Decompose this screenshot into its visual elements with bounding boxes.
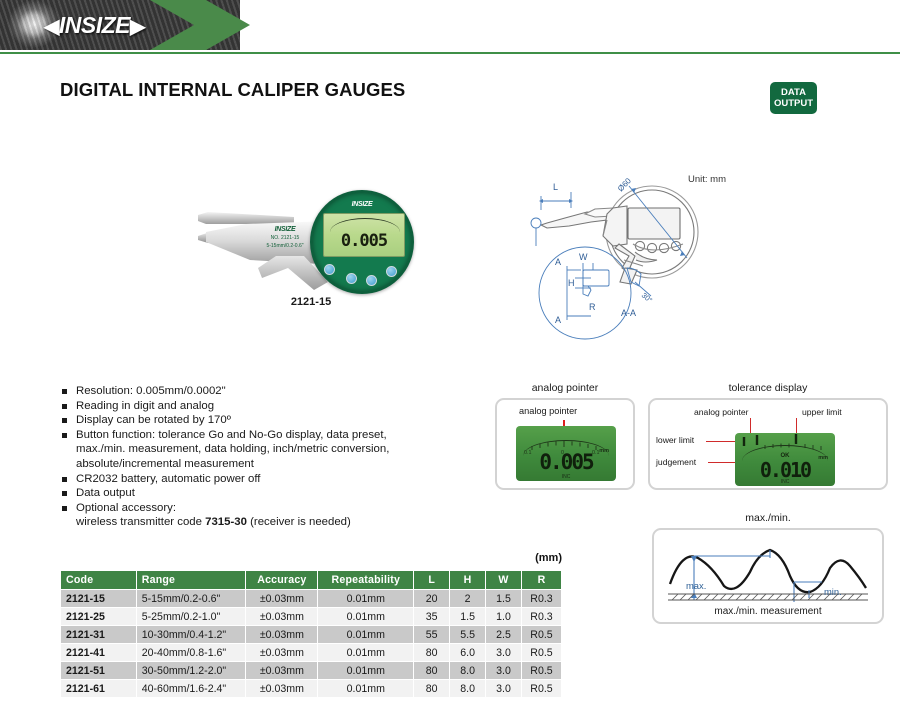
cell-accuracy: ±0.03mm xyxy=(246,644,318,662)
feature-text-cont: absolute/incremental measurement xyxy=(76,457,462,472)
feature-item: Button function: tolerance Go and No-Go … xyxy=(62,428,462,472)
cell-l: 80 xyxy=(414,662,450,680)
cell-code: 2121-41 xyxy=(61,644,137,662)
cell-code: 2121-15 xyxy=(61,590,137,608)
drawing-section-a-top: A xyxy=(555,257,561,267)
cell-w: 3.0 xyxy=(486,644,522,662)
insize-logo: ◀INSIZE▶ xyxy=(44,12,145,39)
product-code-caption: 2121-15 xyxy=(196,296,426,308)
dial-button-row xyxy=(322,264,406,290)
cell-h: 8.0 xyxy=(450,680,486,698)
cell-code: 2121-61 xyxy=(61,680,137,698)
maxmin-waveform-svg xyxy=(654,532,882,604)
maxmin-panel: max. min. max./min. measurement xyxy=(652,528,884,624)
logo-text: INSIZE xyxy=(59,12,130,38)
tolerance-lcd-screen: OK 0.010 mm INC xyxy=(735,433,835,486)
table-unit-label: (mm) xyxy=(60,552,562,564)
data-output-badge: DATA OUTPUT xyxy=(770,82,817,114)
cell-l: 35 xyxy=(414,608,450,626)
dial-lcd-screen: 0.005 xyxy=(323,213,405,257)
features-list: Resolution: 0.005mm/0.0002" Reading in d… xyxy=(62,384,462,530)
tolerance-panel-caption: tolerance display xyxy=(648,382,888,394)
feature-text: Button function: tolerance Go and No-Go … xyxy=(76,429,387,441)
caliper-dial-head: INSIZE 0.005 xyxy=(310,190,414,294)
cell-h: 5.5 xyxy=(450,626,486,644)
cell-r: R0.3 xyxy=(521,608,561,626)
feature-text: Data output xyxy=(76,487,135,499)
cell-repeatability: 0.01mm xyxy=(318,680,414,698)
cell-w: 3.0 xyxy=(486,680,522,698)
drawing-dim-w: W xyxy=(579,252,588,262)
spec-table: Code Range Accuracy Repeatability L H W … xyxy=(60,570,562,698)
analog-panel-caption: analog pointer xyxy=(495,382,635,394)
analog-lcd-mode: INC xyxy=(516,474,616,480)
cell-accuracy: ±0.03mm xyxy=(246,680,318,698)
dial-button-4[interactable] xyxy=(386,266,397,277)
analog-lcd-unit: mm xyxy=(599,448,609,454)
feature-text-cont: wireless transmitter code 7315-30 (recei… xyxy=(76,515,462,530)
cell-code: 2121-25 xyxy=(61,608,137,626)
cell-repeatability: 0.01mm xyxy=(318,608,414,626)
feature-item: Resolution: 0.005mm/0.0002" xyxy=(62,384,462,399)
drawing-section-a-bottom: A xyxy=(555,315,561,325)
badge-line-2: OUTPUT xyxy=(774,98,813,109)
tolerance-lcd-unit: mm xyxy=(818,455,828,461)
table-row: 2121-61 40-60mm/1.6-2.4" ±0.03mm 0.01mm … xyxy=(61,680,562,698)
cell-w: 2.5 xyxy=(486,626,522,644)
cell-w: 1.0 xyxy=(486,608,522,626)
cell-repeatability: 0.01mm xyxy=(318,626,414,644)
maxmin-panel-caption: max./min. xyxy=(652,512,884,524)
cell-range: 20-40mm/0.8-1.6" xyxy=(136,644,246,662)
drawing-dim-h: H xyxy=(568,278,575,288)
col-header-repeatability: Repeatability xyxy=(318,571,414,590)
maxmin-label-min: min. xyxy=(824,586,842,597)
tolerance-lcd-mode: INC xyxy=(735,479,835,485)
col-header-r: R xyxy=(521,571,561,590)
cell-l: 80 xyxy=(414,680,450,698)
feature-text: Optional accessory: xyxy=(76,502,176,514)
cell-r: R0.3 xyxy=(521,590,561,608)
cell-repeatability: 0.01mm xyxy=(318,644,414,662)
technical-drawing-svg: Unit: mm Ø60 L W H R A A A-A 30° xyxy=(495,160,745,340)
cell-h: 8.0 xyxy=(450,662,486,680)
cell-r: R0.5 xyxy=(521,680,561,698)
cell-range: 5-25mm/0.2-1.0" xyxy=(136,608,246,626)
drawing-angle-label: 30° xyxy=(640,291,654,305)
cell-w: 3.0 xyxy=(486,662,522,680)
tolerance-label-lower-limit: lower limit xyxy=(656,435,694,445)
cell-range: 10-30mm/0.4-1.2" xyxy=(136,626,246,644)
feature-text: Resolution: 0.005mm/0.0002" xyxy=(76,385,226,397)
cell-range: 30-50mm/1.2-2.0" xyxy=(136,662,246,680)
tolerance-label-analog-pointer: analog pointer xyxy=(694,407,748,417)
tolerance-label-judgement: judgement xyxy=(656,457,696,467)
product-photo: INSIZE NO. 2121-15 5-15mm/0.2-0.6" INSIZ… xyxy=(196,182,426,312)
maxmin-bottom-caption: max./min. measurement xyxy=(654,606,882,617)
cell-r: R0.5 xyxy=(521,626,561,644)
dial-brand-text: INSIZE xyxy=(312,201,412,208)
cell-code: 2121-51 xyxy=(61,662,137,680)
cell-accuracy: ±0.03mm xyxy=(246,608,318,626)
col-header-l: L xyxy=(414,571,450,590)
dial-button-2[interactable] xyxy=(346,273,357,284)
table-row: 2121-51 30-50mm/1.2-2.0" ±0.03mm 0.01mm … xyxy=(61,662,562,680)
maxmin-label-max: max. xyxy=(686,580,706,591)
drawing-dim-r: R xyxy=(589,302,596,312)
table-header-row: Code Range Accuracy Repeatability L H W … xyxy=(61,571,562,590)
feature-item: Optional accessory: wireless transmitter… xyxy=(62,501,462,530)
dial-button-3[interactable] xyxy=(366,275,377,286)
tolerance-label-upper-limit: upper limit xyxy=(802,407,842,417)
logo-arrow-right: ▶ xyxy=(130,16,145,38)
page-title: DIGITAL INTERNAL CALIPER GAUGES xyxy=(60,79,405,101)
feature-item: Data output xyxy=(62,486,462,501)
cell-range: 40-60mm/1.6-2.4" xyxy=(136,680,246,698)
feature-item: Reading in digit and analog xyxy=(62,399,462,414)
accessory-pre: wireless transmitter code xyxy=(76,516,205,528)
badge-line-1: DATA xyxy=(781,87,806,98)
accessory-post: (receiver is needed) xyxy=(247,516,351,528)
cell-r: R0.5 xyxy=(521,662,561,680)
tolerance-display-panel: analog pointer upper limit lower limit j… xyxy=(648,398,888,490)
col-header-w: W xyxy=(486,571,522,590)
drawing-section-label: A-A xyxy=(621,308,636,318)
cell-h: 1.5 xyxy=(450,608,486,626)
col-header-code: Code xyxy=(61,571,137,590)
table-row: 2121-25 5-25mm/0.2-1.0" ±0.03mm 0.01mm 3… xyxy=(61,608,562,626)
catalog-page: ◀INSIZE▶ DIGITAL INTERNAL CALIPER GAUGES… xyxy=(0,0,900,708)
technical-drawing: Unit: mm Ø60 L W H R A A A-A 30° xyxy=(495,160,745,340)
cell-code: 2121-31 xyxy=(61,626,137,644)
feature-text: CR2032 battery, automatic power off xyxy=(76,473,260,485)
col-header-h: H xyxy=(450,571,486,590)
feature-text: Reading in digit and analog xyxy=(76,400,214,412)
feature-text: Display can be rotated by 170º xyxy=(76,414,231,426)
table-row: 2121-31 10-30mm/0.4-1.2" ±0.03mm 0.01mm … xyxy=(61,626,562,644)
table-row: 2121-15 5-15mm/0.2-0.6" ±0.03mm 0.01mm 2… xyxy=(61,590,562,608)
cell-accuracy: ±0.03mm xyxy=(246,590,318,608)
cell-h: 6.0 xyxy=(450,644,486,662)
cell-range: 5-15mm/0.2-0.6" xyxy=(136,590,246,608)
cell-r: R0.5 xyxy=(521,644,561,662)
dial-button-1[interactable] xyxy=(324,264,335,275)
drawing-unit-label: Unit: mm xyxy=(688,174,726,185)
cell-repeatability: 0.01mm xyxy=(318,590,414,608)
accessory-code: 7315-30 xyxy=(205,516,247,528)
col-header-range: Range xyxy=(136,571,246,590)
analog-inner-label: analog pointer xyxy=(519,406,577,416)
cell-accuracy: ±0.03mm xyxy=(246,662,318,680)
cell-w: 1.5 xyxy=(486,590,522,608)
dial-lcd-value: 0.005 xyxy=(324,231,404,251)
feature-item: Display can be rotated by 170º xyxy=(62,413,462,428)
drawing-dim-l: L xyxy=(553,182,558,192)
cell-repeatability: 0.01mm xyxy=(318,662,414,680)
feature-text-cont: max./min. measurement, data holding, inc… xyxy=(76,442,462,457)
logo-arrow-left: ◀ xyxy=(44,16,59,38)
col-header-accuracy: Accuracy xyxy=(246,571,318,590)
cell-h: 2 xyxy=(450,590,486,608)
cell-l: 80 xyxy=(414,644,450,662)
analog-lcd-screen: 0.100.1 0.005 mm INC xyxy=(516,426,616,481)
page-header: ◀INSIZE▶ xyxy=(0,0,900,56)
table-row: 2121-41 20-40mm/0.8-1.6" ±0.03mm 0.01mm … xyxy=(61,644,562,662)
dial-lcd-scale-arc xyxy=(330,218,400,232)
analog-pointer-panel: analog pointer 0.100.1 0.005 mm INC xyxy=(495,398,635,490)
feature-item: CR2032 battery, automatic power off xyxy=(62,472,462,487)
cell-l: 55 xyxy=(414,626,450,644)
header-divider-rule xyxy=(0,52,900,54)
caliper-upper-jaw xyxy=(198,212,294,224)
cell-accuracy: ±0.03mm xyxy=(246,626,318,644)
cell-l: 20 xyxy=(414,590,450,608)
